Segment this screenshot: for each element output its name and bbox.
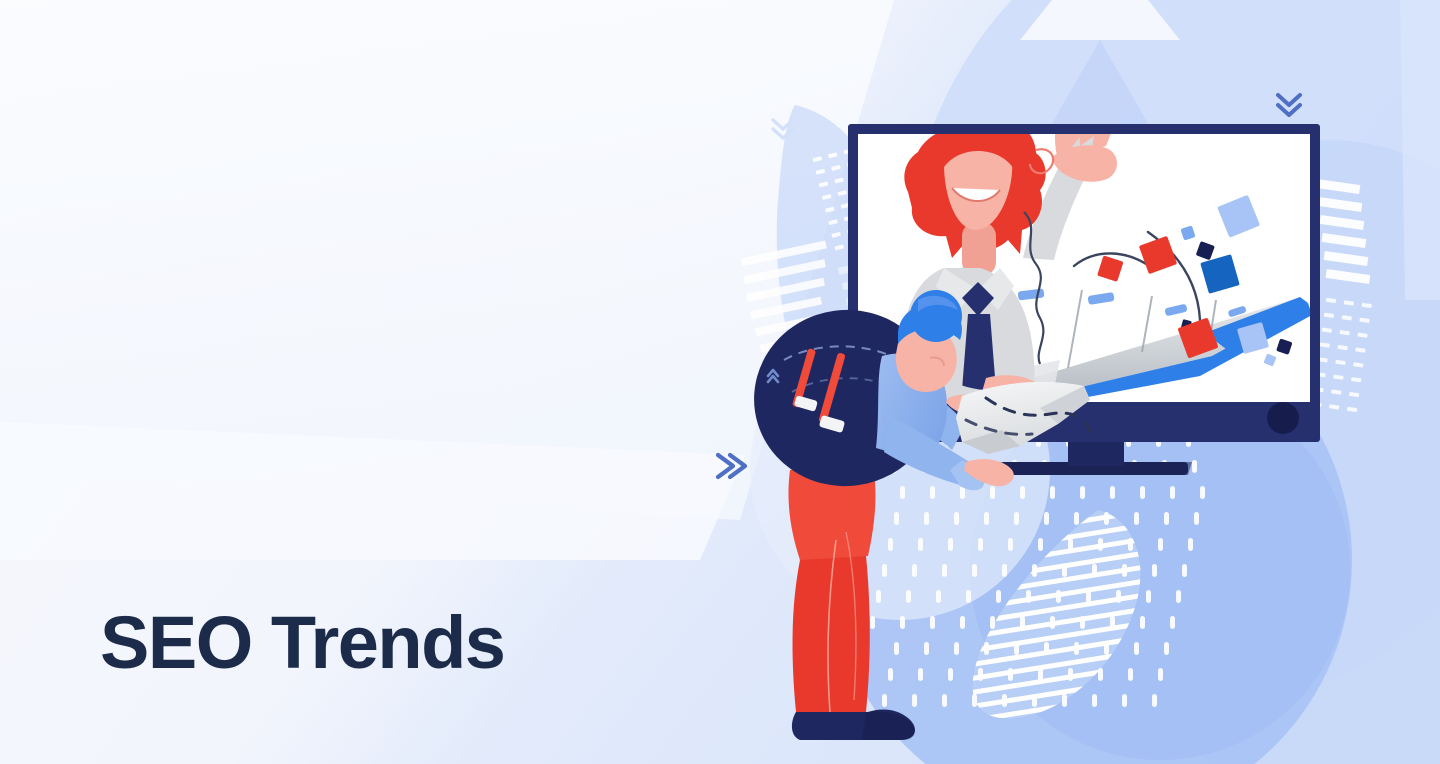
page-title: SEO Trends 2022 (100, 520, 660, 764)
hero-banner: SEO Trends 2022 (0, 0, 1440, 764)
page-title-line-1: SEO Trends (100, 602, 660, 685)
bg-right-band (1400, 0, 1440, 300)
